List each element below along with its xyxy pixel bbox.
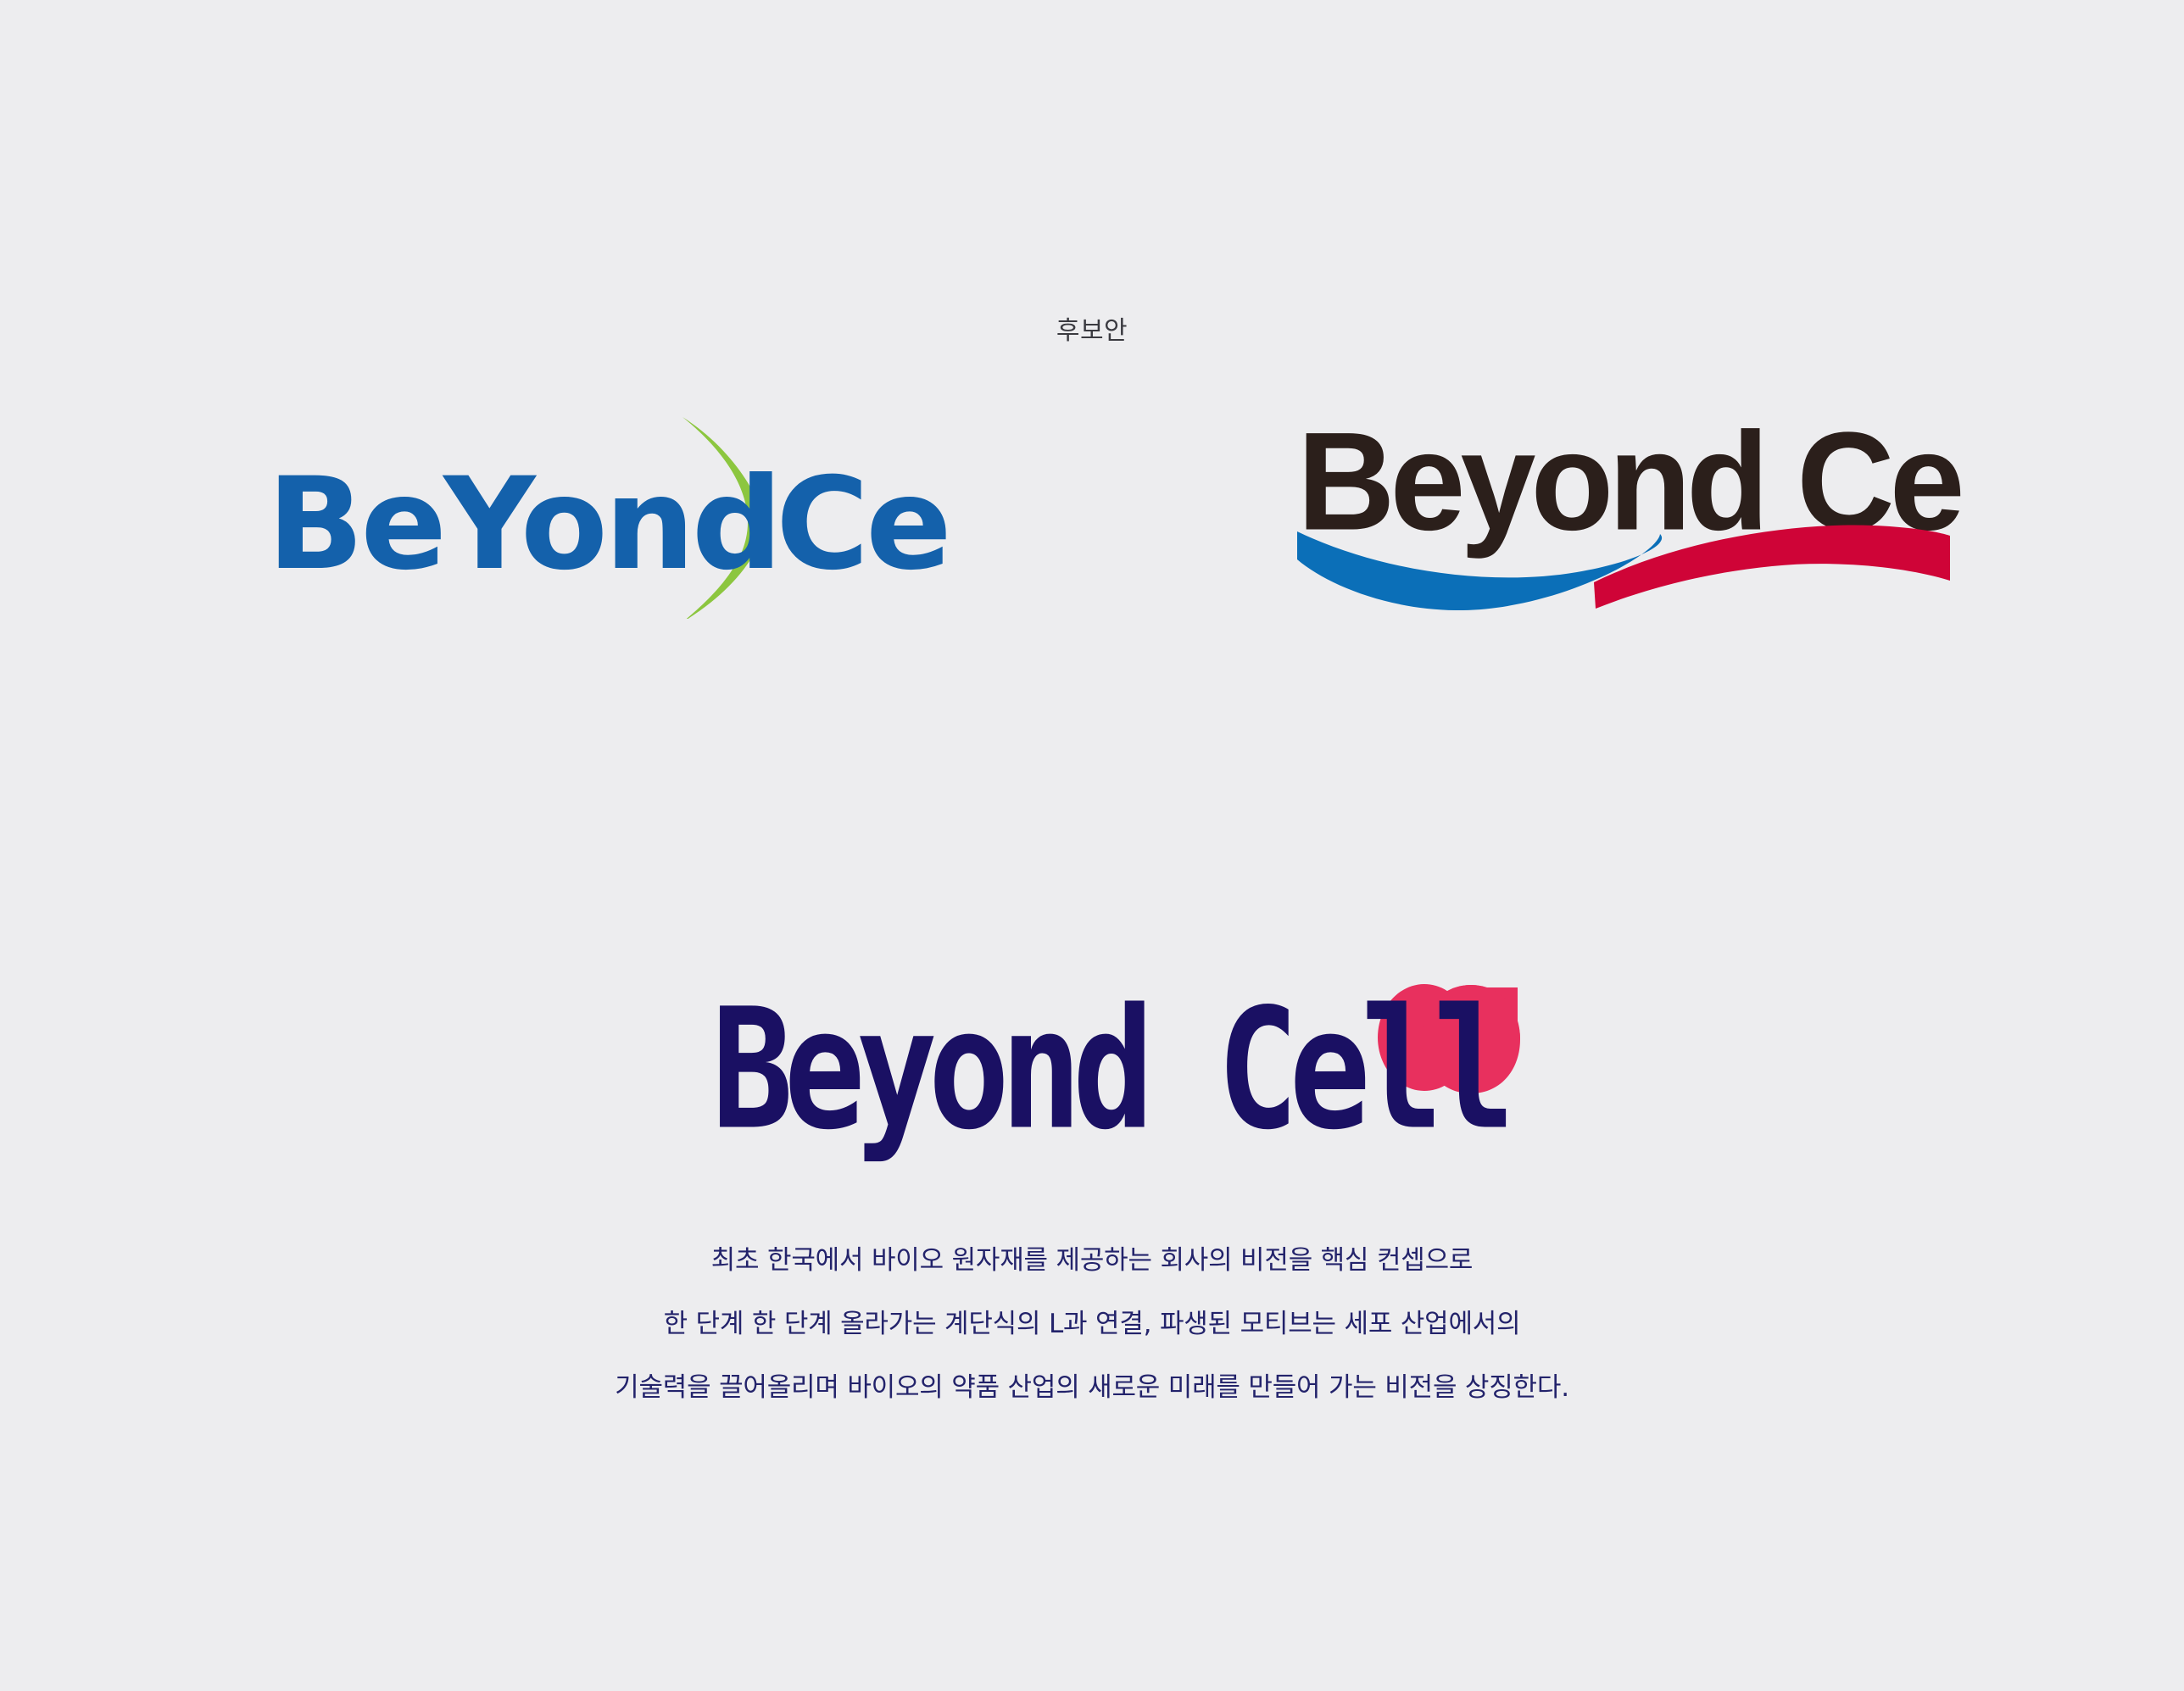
logo-option-1-artwork: BeYond Cell xyxy=(254,398,950,619)
description-line-3: 기술력을 끌어올리며 바이오의 약품 산업의 새로운 미래를 만들어 가는 비전… xyxy=(0,1356,2184,1420)
logo-option-3-artwork: Beyond Cell xyxy=(704,958,1552,1170)
logo-option-2[interactable]: Beyond Cell xyxy=(1280,398,1967,610)
presentation-canvas: 후보안 BeYond Cell Beyond Cell xyxy=(0,0,2184,1691)
section-label: 후보안 xyxy=(0,309,2184,347)
logo-option-2-artwork: Beyond Cell xyxy=(1280,398,1967,610)
logo-option-1-text-cell: Cell xyxy=(776,451,950,598)
logo-description: 최초 한국에서 바이오 원자재를 제공하는 회사의 비전을 핵심 컨셉으로 한 … xyxy=(0,1229,2184,1420)
logo-option-1-text-beyond: BeYond xyxy=(267,451,779,598)
description-line-1: 최초 한국에서 바이오 원자재를 제공하는 회사의 비전을 핵심 컨셉으로 xyxy=(0,1229,2184,1293)
logo-option-1[interactable]: BeYond Cell xyxy=(254,398,950,619)
description-line-2: 한 단계 한 단계 올라가는 계단식의 L과 연결, 파생된 모티브는 세포 산… xyxy=(0,1293,2184,1356)
logo-option-3-text: Beyond Cell xyxy=(711,974,1506,1167)
logo-option-3[interactable]: Beyond Cell xyxy=(704,958,1552,1170)
